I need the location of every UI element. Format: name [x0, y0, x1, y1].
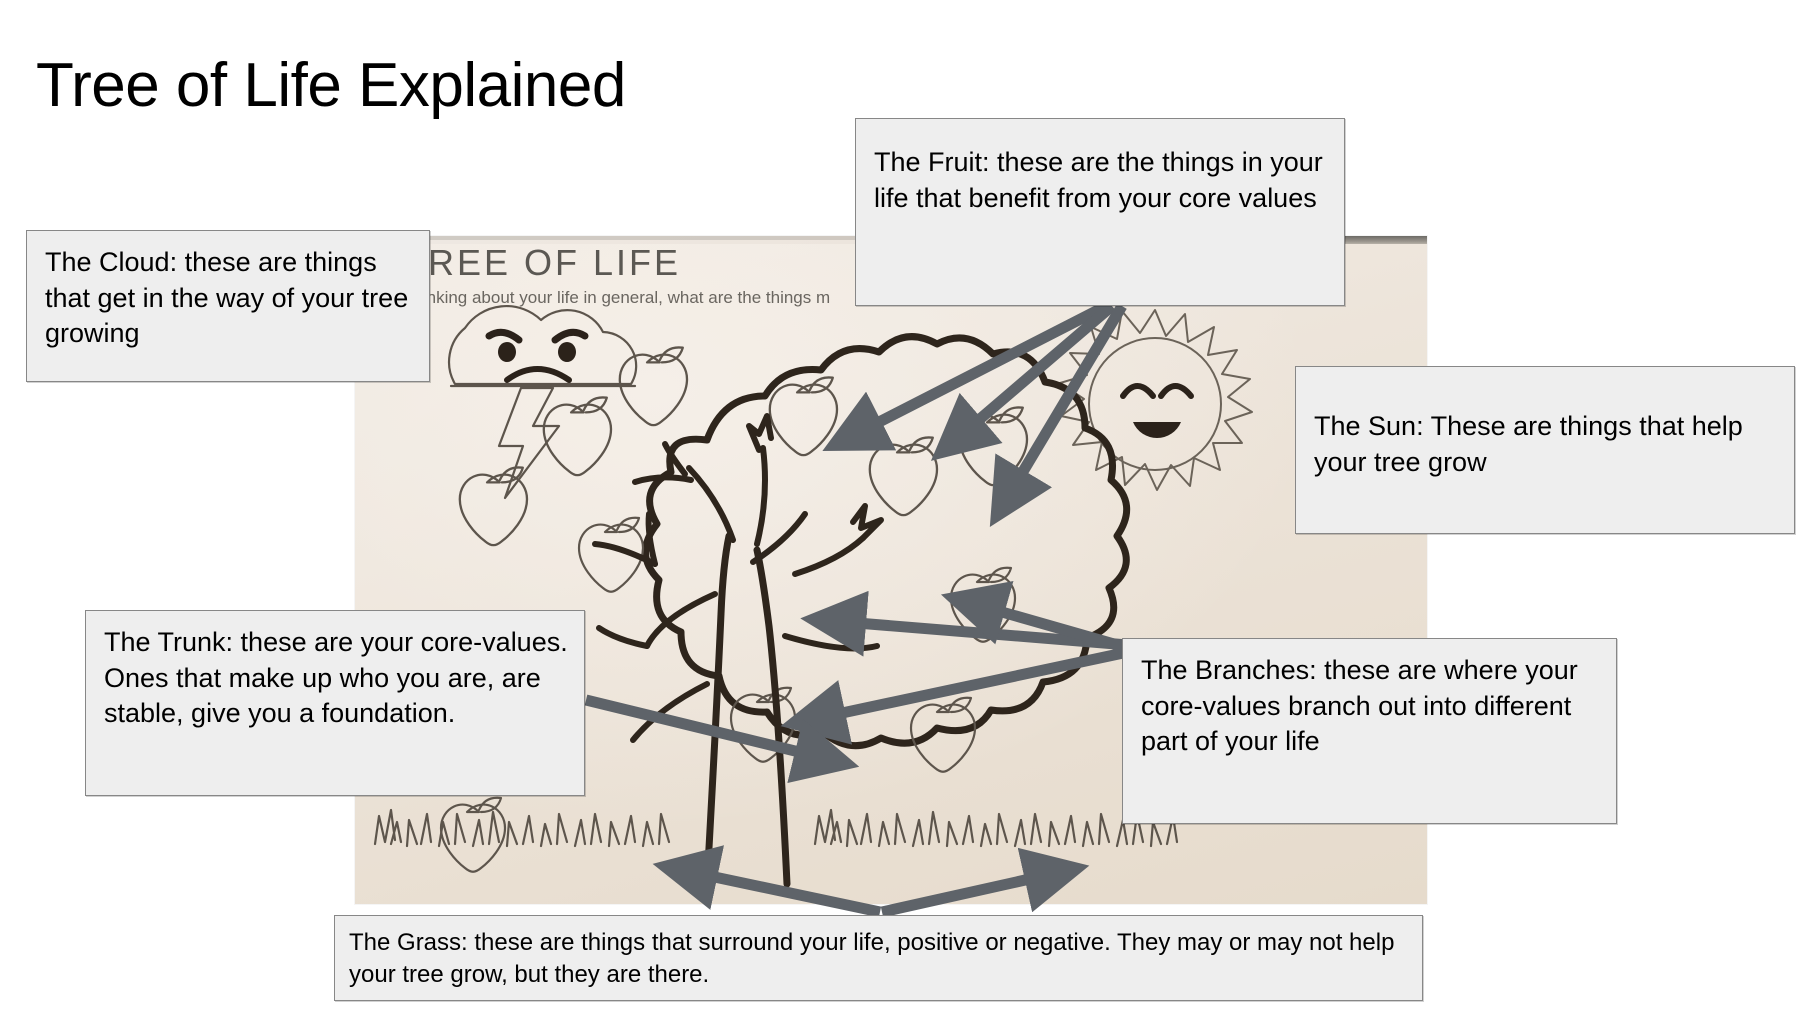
callout-fruit-text: The Fruit: these are the things in your … — [874, 147, 1323, 213]
callout-trunk[interactable]: The Trunk: these are your core-values. O… — [85, 610, 585, 796]
callout-grass[interactable]: The Grass: these are things that surroun… — [334, 915, 1423, 1001]
callout-trunk-text: The Trunk: these are your core-values. O… — [104, 627, 568, 728]
callout-branches-text: The Branches: these are where your core-… — [1141, 655, 1578, 756]
smiling-sun-icon — [1060, 310, 1252, 490]
tree-trunk-and-branches — [595, 416, 881, 884]
callout-cloud[interactable]: The Cloud: these are things that get in … — [26, 230, 430, 382]
callout-branches[interactable]: The Branches: these are where your core-… — [1122, 638, 1617, 824]
callout-sun[interactable]: The Sun: These are things that help your… — [1295, 366, 1795, 534]
callout-grass-text: The Grass: these are things that surroun… — [349, 929, 1394, 988]
grass-row — [375, 810, 1177, 846]
angry-cloud-icon — [449, 306, 636, 498]
page-title: Tree of Life Explained — [36, 52, 626, 120]
callout-fruit[interactable]: The Fruit: these are the things in your … — [855, 118, 1345, 306]
callout-sun-text: The Sun: These are things that help your… — [1314, 411, 1743, 477]
slide-canvas: Tree of Life Explained TREE OF LIFE Thin… — [0, 0, 1800, 1013]
callout-cloud-text: The Cloud: these are things that get in … — [45, 247, 408, 348]
